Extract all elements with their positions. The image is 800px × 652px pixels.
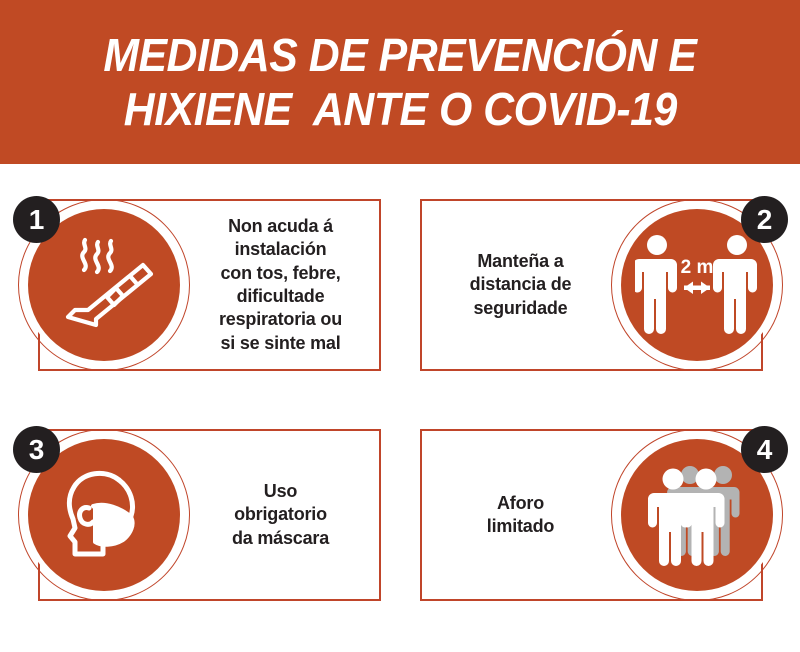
- distance-label: 2 m: [681, 257, 714, 278]
- measure-text-1: Non acuda á instalación con tos, febre, …: [190, 201, 371, 369]
- measure-text-3: Uso obrigatorio da máscara: [190, 431, 371, 599]
- measures-grid: 1 Non acuda á instalación con tos, febre…: [0, 164, 800, 652]
- medallion-2: 2 m 2: [615, 203, 779, 367]
- social-distance-icon: 2 m: [635, 229, 759, 341]
- face-mask-icon: [45, 456, 163, 574]
- medallion-3: 3: [22, 433, 186, 597]
- measure-card-3: 3 Uso obrigatorio da máscara: [38, 429, 381, 601]
- card-number-badge-2: 2: [741, 196, 788, 243]
- measure-card-1: 1 Non acuda á instalación con tos, febre…: [38, 199, 381, 371]
- thermometer-icon: [44, 225, 164, 345]
- measure-text-4: Aforo limitado: [430, 431, 611, 599]
- title-line-1: MEDIDAS DE PREVENCIÓN E: [103, 28, 696, 82]
- crowd-limit-icon: [643, 459, 751, 571]
- medallion-4: 4: [615, 433, 779, 597]
- measure-card-2: 2 m 2 Manteña a distancia de seguridade: [420, 199, 763, 371]
- measure-text-2: Manteña a distancia de seguridade: [430, 201, 611, 369]
- card-number-badge-3: 3: [13, 426, 60, 473]
- header-banner: MEDIDAS DE PREVENCIÓN E HIXIENE ANTE O C…: [0, 0, 800, 164]
- card-number-badge-4: 4: [741, 426, 788, 473]
- measure-card-4: 4 Aforo limitado: [420, 429, 763, 601]
- medallion-1: 1: [22, 203, 186, 367]
- title-line-2: HIXIENE ANTE O COVID-19: [123, 82, 676, 136]
- mask-body: [93, 505, 133, 545]
- card-number-badge-1: 1: [13, 196, 60, 243]
